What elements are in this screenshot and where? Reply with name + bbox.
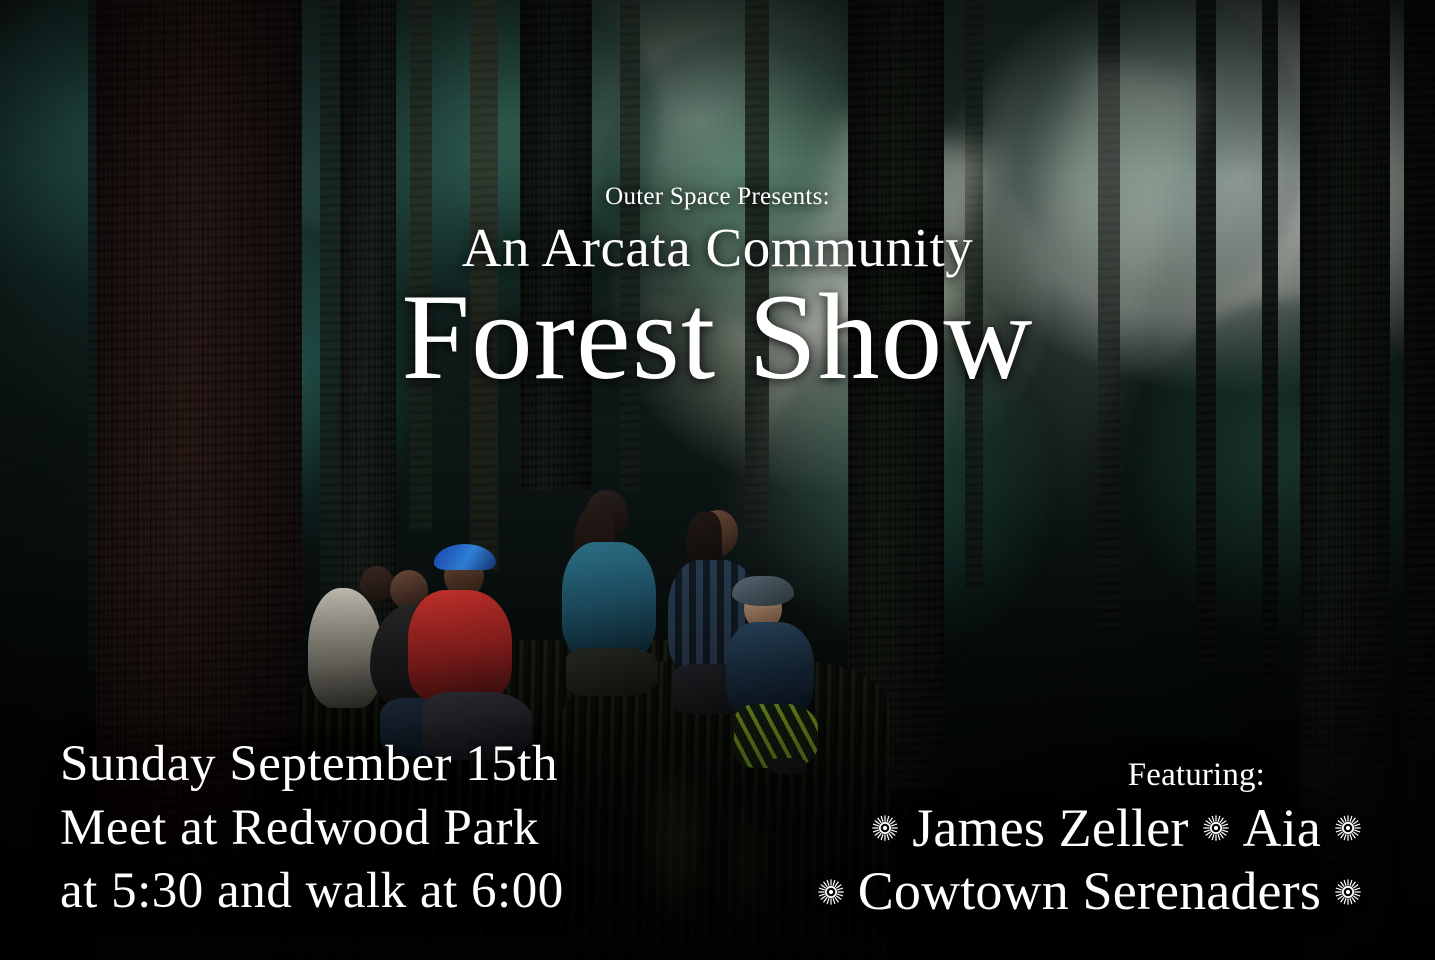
forest-show-poster: Outer Space Presents: An Arcata Communit…	[0, 0, 1435, 960]
person-silhouette	[718, 570, 828, 790]
event-date: Sunday September 15th	[60, 733, 564, 797]
person-silhouette	[552, 490, 668, 690]
featuring-block: Featuring: James Zeller Aia Cowtown Sere…	[818, 756, 1361, 924]
bucket-hat	[732, 576, 794, 606]
featuring-line-2: Cowtown Serenaders	[818, 860, 1361, 924]
featuring-line-1: James Zeller Aia	[818, 797, 1361, 861]
presenter-line: Outer Space Presents:	[0, 183, 1435, 211]
poster-title: Forest Show	[0, 272, 1435, 402]
performer-name: James Zeller	[912, 797, 1188, 861]
event-location: Meet at Redwood Park	[60, 797, 564, 861]
event-details: Sunday September 15th Meet at Redwood Pa…	[60, 733, 564, 924]
sunburst-icon	[1335, 815, 1361, 841]
performer-name: Aia	[1243, 797, 1321, 861]
performer-name: Cowtown Serenaders	[858, 860, 1321, 924]
sunburst-icon	[872, 815, 898, 841]
featuring-label: Featuring:	[818, 756, 1265, 795]
sunburst-icon	[818, 879, 844, 905]
event-time: at 5:30 and walk at 6:00	[60, 860, 564, 924]
sandal	[770, 758, 806, 774]
sunburst-icon	[1203, 815, 1229, 841]
moss-highlight	[640, 760, 710, 950]
baseball-cap	[434, 544, 496, 570]
person-silhouette	[400, 540, 540, 760]
moss-highlight	[720, 800, 774, 950]
foreground-trunk-right-edge	[1404, 0, 1435, 960]
sunburst-icon	[1335, 879, 1361, 905]
